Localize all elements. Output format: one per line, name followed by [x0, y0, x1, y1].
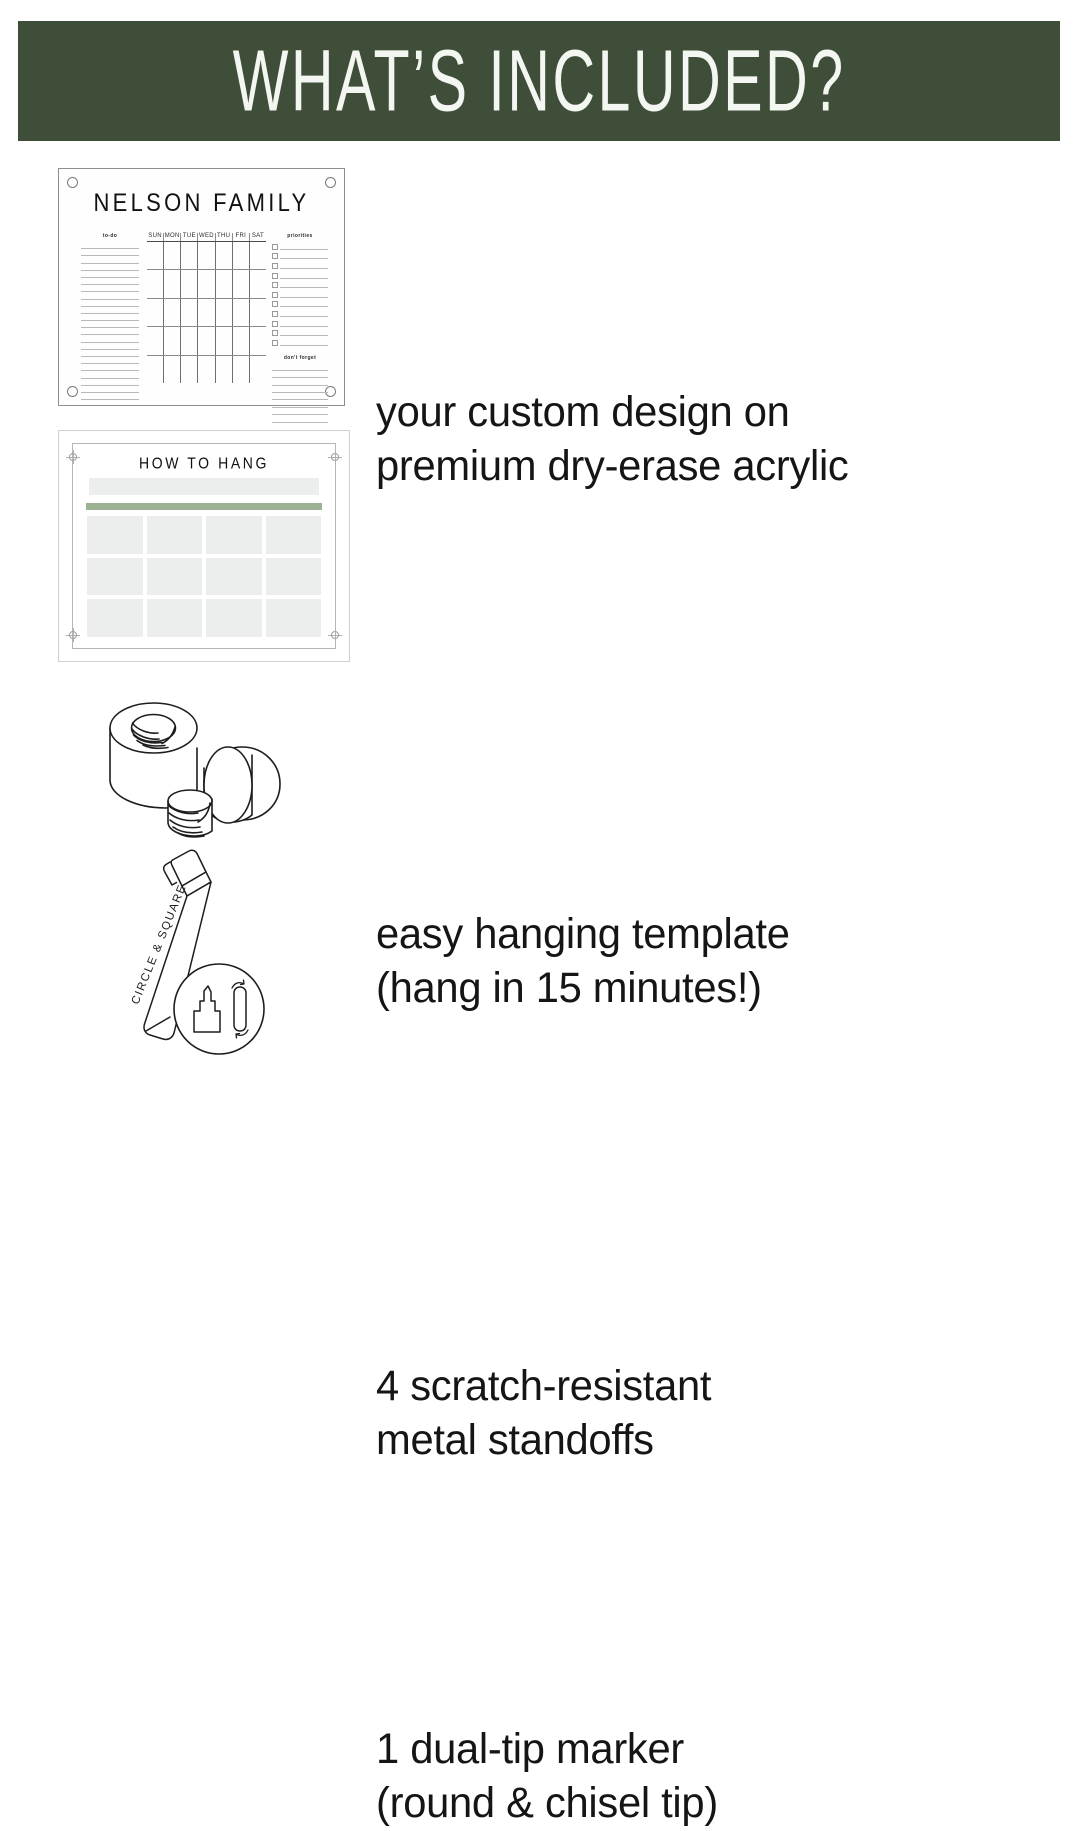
registration-crosshair-icon — [66, 628, 80, 642]
checkbox-icon — [272, 292, 278, 298]
standoff-hole-icon — [325, 177, 336, 188]
template-grid-cell — [147, 558, 203, 596]
included-item-calendar: NELSON FAMILY to-do SUN MON TUE WED — [0, 168, 1080, 408]
checkbox-icon — [272, 244, 278, 250]
calendar-day-name: TUE — [180, 233, 197, 241]
calendar-priorities-list — [272, 242, 328, 348]
included-item-template: HOW TO HANG easy hanging template (hang … — [0, 430, 1080, 670]
page-title: WHAT’S INCLUDED? — [233, 37, 846, 124]
metal-standoff-illustration — [92, 672, 307, 847]
calendar-todo-lines — [81, 242, 139, 400]
template-header-block — [89, 478, 319, 495]
registration-crosshair-icon — [328, 628, 342, 642]
template-accent-bar — [86, 503, 322, 510]
template-grid-cell — [147, 599, 203, 637]
header-banner: WHAT’S INCLUDED? — [18, 21, 1060, 141]
template-grid-cell — [266, 558, 322, 596]
template-grid-cell — [206, 558, 262, 596]
calendar-week-row — [147, 327, 266, 355]
template-grid-cell — [266, 599, 322, 637]
calendar-dont-forget-label: don't forget — [272, 355, 328, 361]
calendar-day-name: THU — [215, 233, 232, 241]
template-grid-cell — [266, 516, 322, 554]
calendar-week-rows — [147, 242, 266, 383]
standoff-line-drawing-icon — [92, 672, 307, 847]
checkbox-icon — [272, 282, 278, 288]
checkbox-icon — [272, 330, 278, 336]
checkbox-icon — [272, 301, 278, 307]
calendar-day-header-row: SUN MON TUE WED THU FRI SAT — [147, 233, 266, 242]
calendar-day-name: FRI — [232, 233, 249, 241]
included-item-standoffs: 4 scratch-resistant metal standoffs — [0, 672, 1080, 857]
template-grid-cell — [147, 516, 203, 554]
checkbox-icon — [272, 253, 278, 259]
calendar-dont-forget-lines — [272, 364, 328, 423]
calendar-priorities-label: priorities — [272, 233, 328, 239]
calendar-day-name: SUN — [147, 233, 163, 241]
calendar-week-row — [147, 356, 266, 383]
checkbox-icon — [272, 273, 278, 279]
hanging-template-illustration: HOW TO HANG — [58, 430, 350, 662]
calendar-month-grid: SUN MON TUE WED THU FRI SAT — [147, 233, 266, 383]
included-item-marker: CIRCLE & SQUARE 1 dual-tip marker (round… — [0, 845, 1080, 1070]
checkbox-icon — [272, 311, 278, 317]
included-item-marker-text: 1 dual-tip marker (round & chisel tip) — [376, 1723, 718, 1831]
calendar-todo-label: to-do — [81, 233, 139, 239]
calendar-week-row — [147, 299, 266, 327]
calendar-week-row — [147, 270, 266, 298]
template-grid-cell — [87, 599, 143, 637]
template-grid-cell — [206, 516, 262, 554]
checkbox-icon — [272, 263, 278, 269]
standoff-hole-icon — [67, 386, 78, 397]
acrylic-calendar-board-illustration: NELSON FAMILY to-do SUN MON TUE WED — [58, 168, 345, 406]
template-grid — [87, 516, 321, 637]
included-item-standoffs-text: 4 scratch-resistant metal standoffs — [376, 1360, 711, 1468]
checkbox-icon — [272, 340, 278, 346]
calendar-week-row — [147, 242, 266, 270]
calendar-side-column: priorities don't forget — [272, 233, 328, 383]
template-grid-cell — [87, 558, 143, 596]
template-grid-cell — [87, 516, 143, 554]
template-title: HOW TO HANG — [59, 454, 349, 472]
dual-tip-marker-illustration: CIRCLE & SQUARE — [110, 845, 275, 1060]
calendar-day-name: WED — [197, 233, 214, 241]
calendar-day-name: MON — [163, 233, 180, 241]
standoff-hole-icon — [67, 177, 78, 188]
calendar-day-name: SAT — [249, 233, 266, 241]
template-grid-cell — [206, 599, 262, 637]
checkbox-icon — [272, 321, 278, 327]
marker-line-drawing-icon: CIRCLE & SQUARE — [110, 845, 275, 1060]
calendar-todo-column: to-do — [81, 233, 139, 383]
calendar-family-name: NELSON FAMILY — [59, 188, 344, 217]
